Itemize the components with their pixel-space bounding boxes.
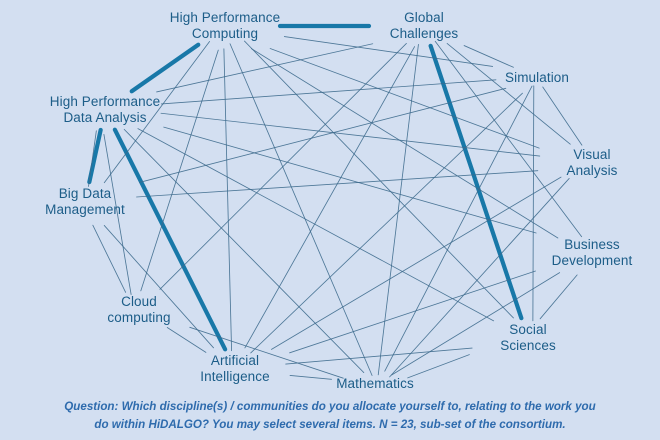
node-label-sim[interactable]: Simulation <box>505 70 569 86</box>
node-label-bdm[interactable]: Big Data Management <box>45 186 125 218</box>
network-diagram: High Performance ComputingGlobal Challen… <box>0 0 660 440</box>
graph-edge <box>447 43 570 144</box>
node-label-ss[interactable]: Social Sciences <box>500 322 556 354</box>
graph-edge <box>543 87 582 145</box>
figure-caption: Question: Which discipline(s) / communit… <box>0 398 660 434</box>
node-label-math[interactable]: Mathematics <box>336 376 414 392</box>
graph-edge <box>164 127 536 233</box>
node-label-cloud[interactable]: Cloud computing <box>107 294 170 326</box>
caption-line-1: Question: Which discipline(s) / communit… <box>0 398 660 416</box>
graph-edge <box>431 46 522 318</box>
graph-edge <box>378 44 418 374</box>
node-label-bd[interactable]: Business Development <box>552 237 633 269</box>
graph-edge <box>224 49 232 351</box>
graph-edge <box>290 375 331 379</box>
node-label-ai[interactable]: Artificial Intelligence <box>200 353 270 385</box>
graph-edge <box>138 129 494 321</box>
graph-edge <box>408 355 470 378</box>
graph-edge <box>290 271 536 353</box>
node-label-hpc[interactable]: High Performance Computing <box>170 10 280 42</box>
graph-edge <box>132 45 199 92</box>
graph-edge <box>139 88 505 182</box>
graph-edge <box>104 225 213 347</box>
graph-edge <box>284 37 492 67</box>
node-label-gc[interactable]: Global Challenges <box>390 10 459 42</box>
graph-edge <box>464 46 513 68</box>
graph-edge <box>160 43 407 289</box>
graph-edge <box>286 348 472 364</box>
node-label-va[interactable]: Visual Analysis <box>566 147 617 179</box>
graph-edge <box>533 86 534 321</box>
node-label-hpda[interactable]: High Performance Data Analysis <box>50 94 160 126</box>
graph-edge <box>124 129 364 372</box>
caption-line-2: do within HiDALGO? You may select severa… <box>0 416 660 434</box>
